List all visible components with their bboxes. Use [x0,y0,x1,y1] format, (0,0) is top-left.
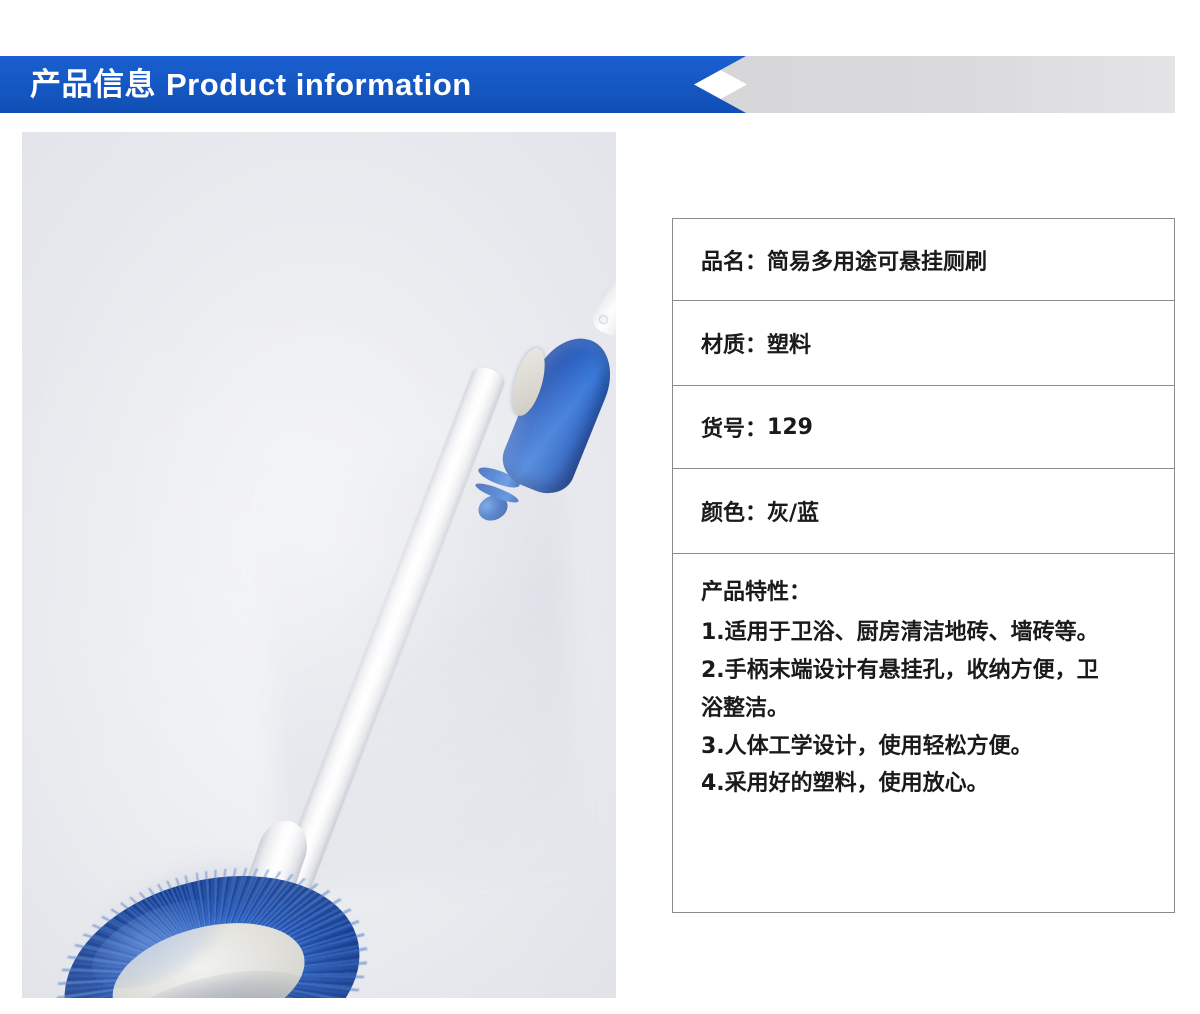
page-title-english: Product information [166,67,472,102]
feature-line-3: 3.人体工学设计，使用轻松方便。 [701,728,1150,766]
feature-line-2-cont: 浴整洁。 [701,690,1150,728]
table-row: 货号： 129 [673,386,1174,469]
spec-label-item-number: 货号： [701,411,767,443]
page-header-banner: 产品信息Product information [0,56,1200,113]
spec-value-color: 灰/蓝 [767,495,819,527]
handle-hanging-hole [600,316,607,323]
table-row: 材质： 塑料 [673,301,1174,386]
page-title-chinese: 产品信息 [30,67,156,103]
banner-blue-arrow: 产品信息Product information [0,56,746,113]
spec-value-name: 简易多用途可悬挂厕刷 [767,244,987,276]
spec-value-material: 塑料 [767,327,811,359]
product-features-cell: 产品特性： 1.适用于卫浴、厨房清洁地砖、墙砖等。 2.手柄末端设计有悬挂孔，收… [673,554,1174,803]
spec-value-item-number: 129 [767,415,813,440]
spec-label-name: 品名： [701,244,767,276]
product-spec-table: 品名： 简易多用途可悬挂厕刷 材质： 塑料 货号： 129 颜色： 灰/蓝 产品… [672,218,1175,913]
spec-label-material: 材质： [701,327,767,359]
feature-line-1: 1.适用于卫浴、厨房清洁地砖、墙砖等。 [701,614,1150,652]
handle-white-tip [589,269,616,340]
feature-line-4: 4.采用好的塑料，使用放心。 [701,765,1150,803]
feature-line-2: 2.手柄末端设计有悬挂孔，收纳方便，卫 [701,652,1150,690]
handle-blue-grip [495,326,616,502]
features-title: 产品特性： [701,576,1150,610]
banner-gray-tail [695,56,1175,113]
table-row: 颜色： 灰/蓝 [673,469,1174,554]
page-title: 产品信息Product information [0,69,472,101]
spec-label-color: 颜色： [701,495,767,527]
table-row: 品名： 简易多用途可悬挂厕刷 [673,219,1174,301]
product-photo [22,132,616,998]
